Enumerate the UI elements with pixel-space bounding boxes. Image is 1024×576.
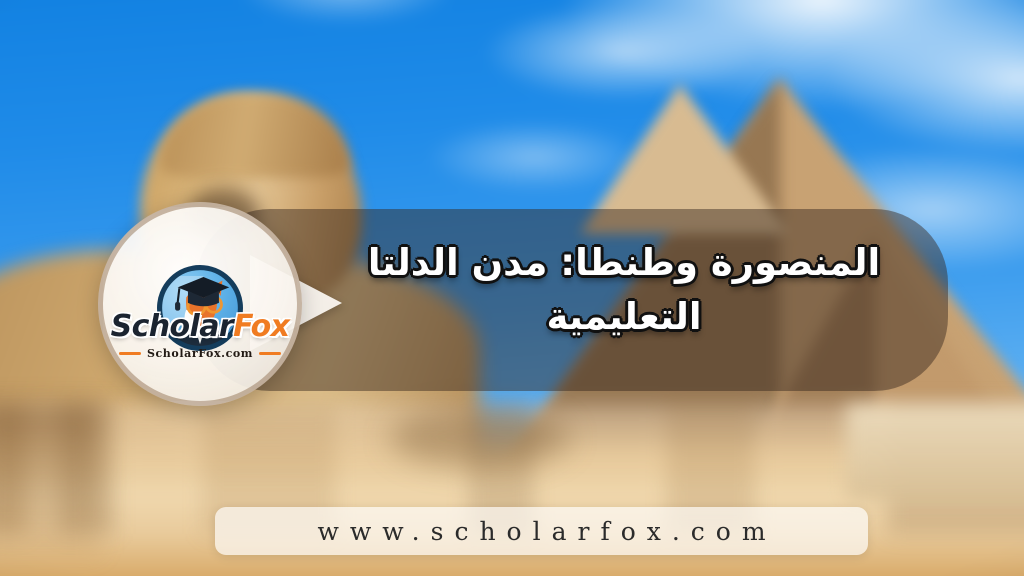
ground-shadow-left [0,404,100,554]
headline-line-2: التعليمية [330,290,918,344]
logo-badge[interactable]: ScholarFox ScholarFox.com [98,202,302,406]
wordmark-fox: Fox [233,309,289,344]
ruin-structure-right [846,404,1024,500]
wordmark: ScholarFox [103,309,297,344]
wordmark-subtitle-row: ScholarFox.com [103,347,297,360]
wordmark-scholar: Scholar [111,309,233,344]
subtitle-rule-right [259,352,281,355]
promotional-banner: المنصورة وطنطا: مدن الدلتا التعليمية [0,0,1024,576]
headline: المنصورة وطنطا: مدن الدلتا التعليمية [330,236,918,344]
ground-shadow-center [390,408,570,468]
headline-line-1: المنصورة وطنطا: مدن الدلتا [330,236,918,290]
wordmark-subtitle: ScholarFox.com [147,347,253,360]
website-url-text: www.scholarfox.com [306,517,776,546]
subtitle-rule-left [119,352,141,355]
website-url-pill[interactable]: www.scholarfox.com [215,507,868,555]
